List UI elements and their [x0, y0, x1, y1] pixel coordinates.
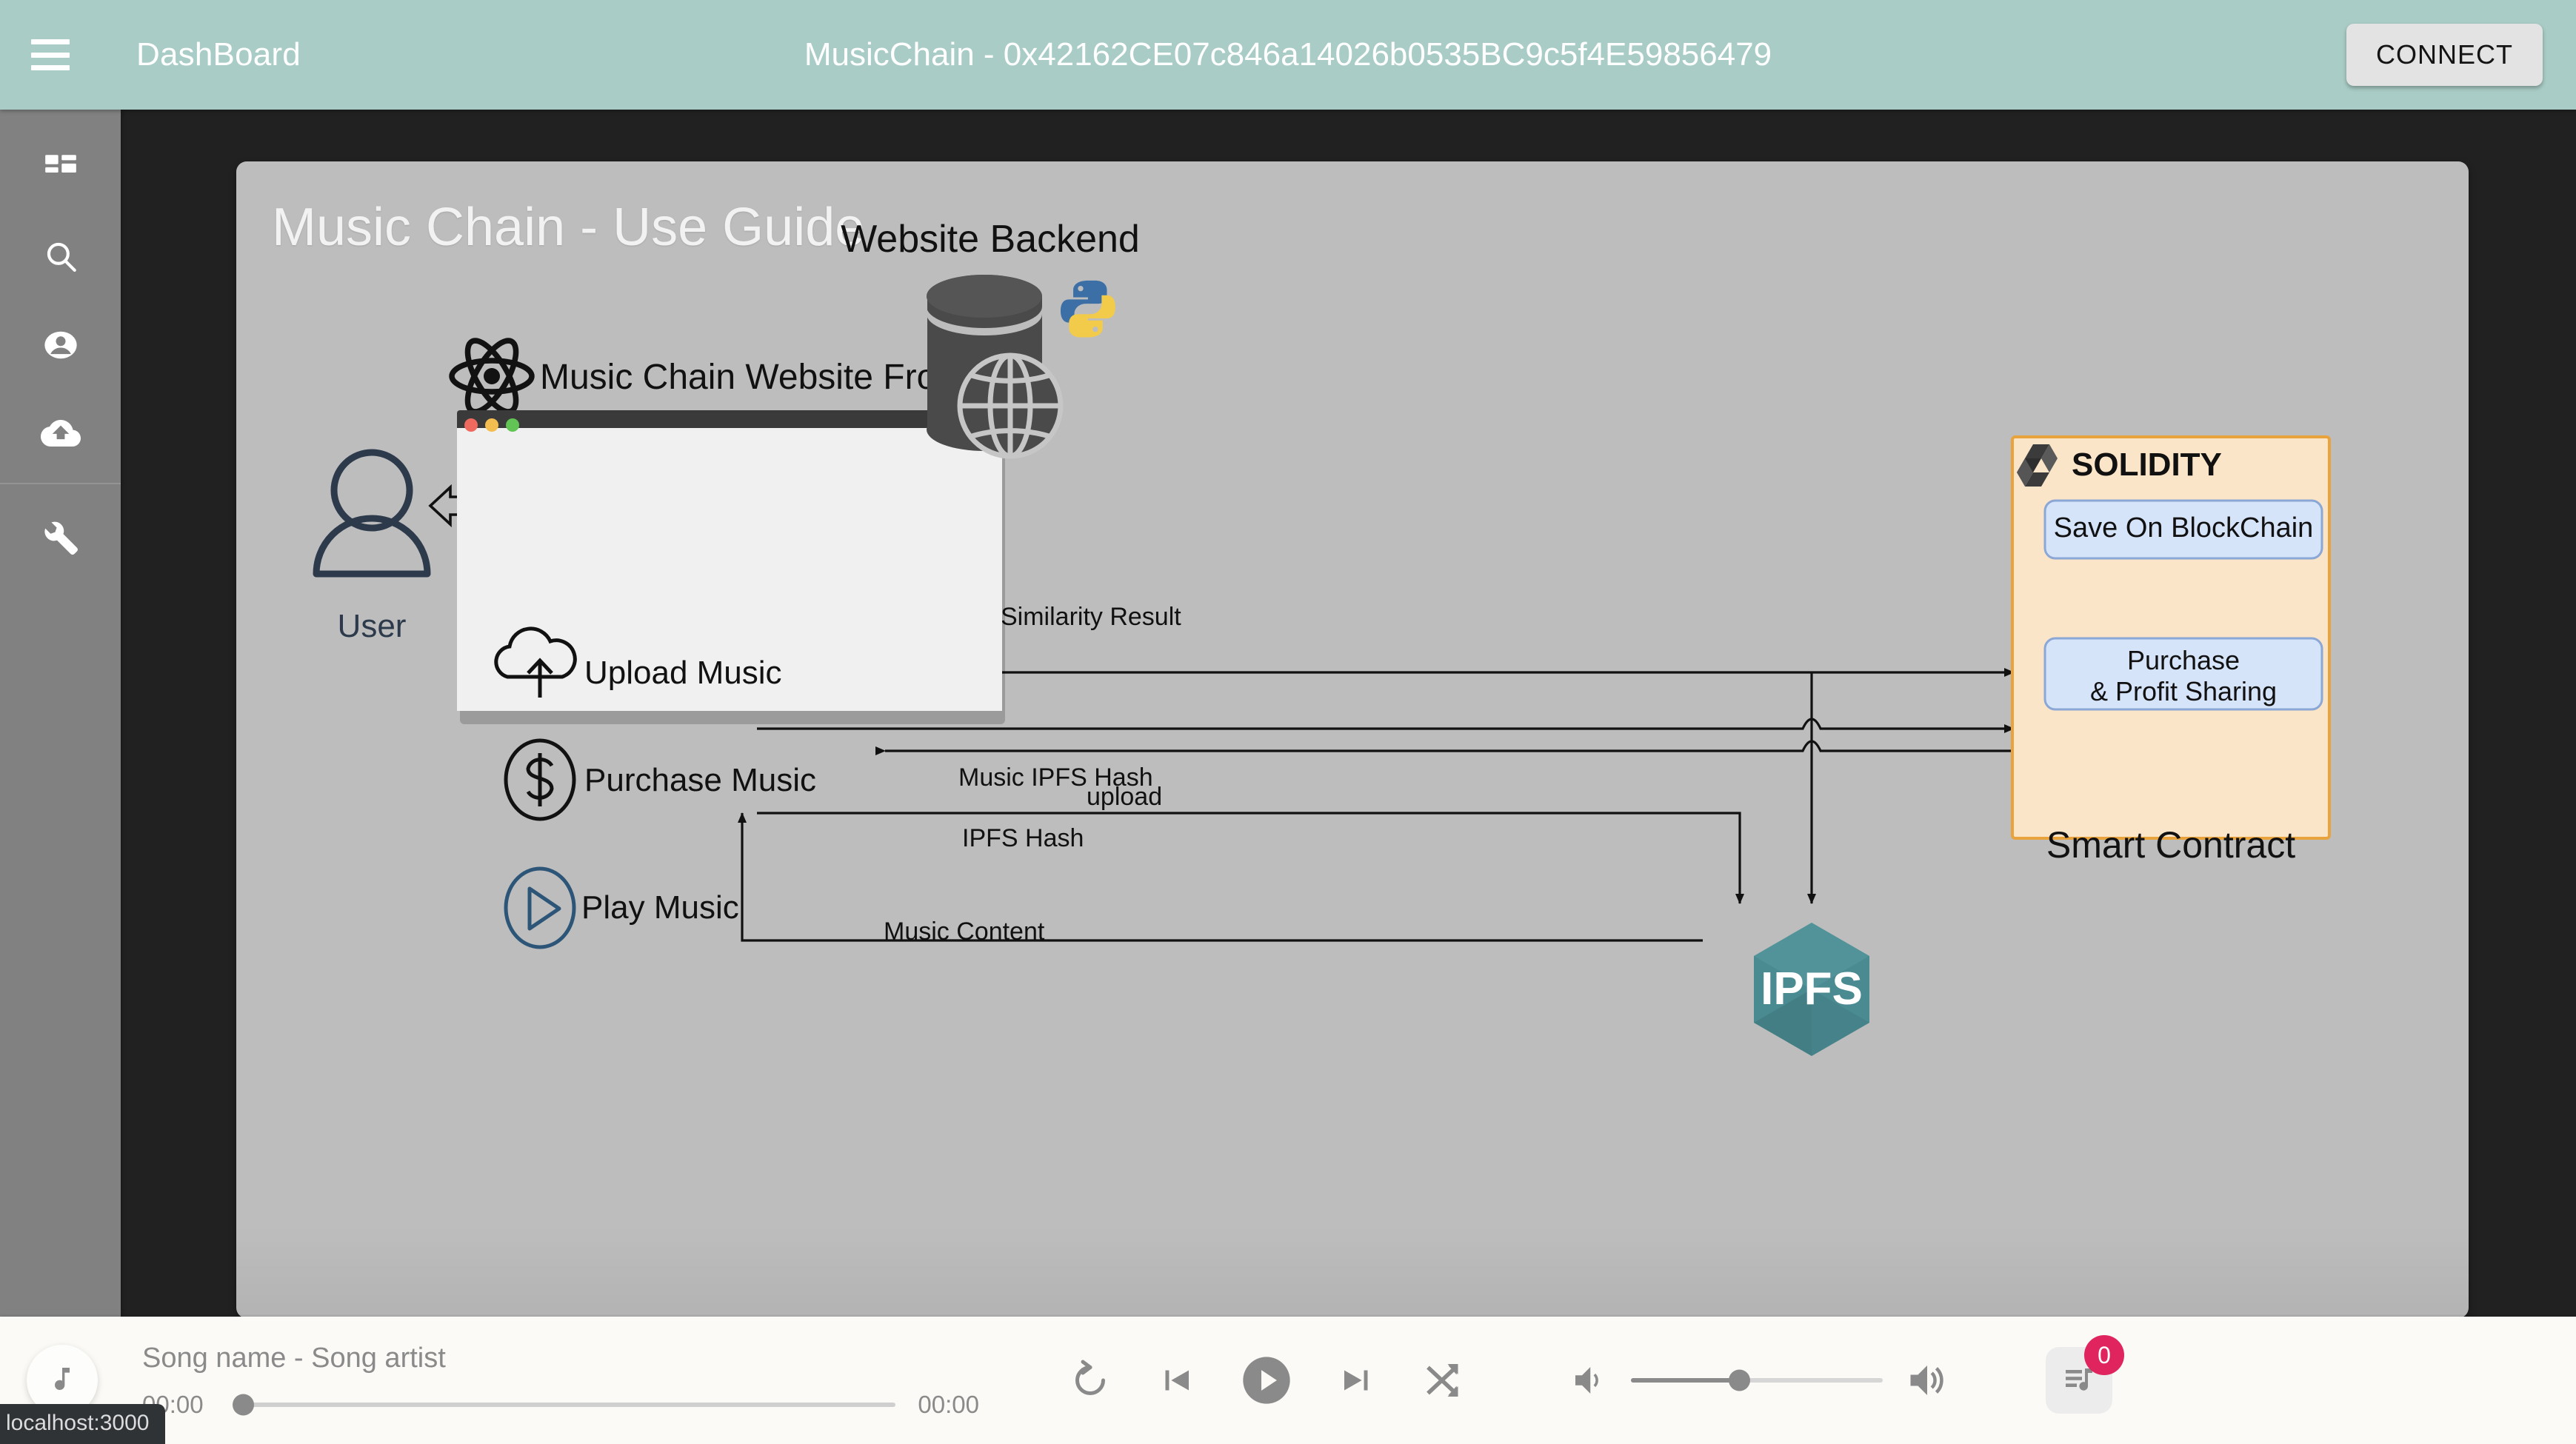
playlist-count-badge: 0 — [2084, 1335, 2124, 1375]
architecture-diagram: upload Similarity Result Music IPFS Hash… — [236, 161, 2469, 1317]
window-minimize-dot — [485, 418, 498, 432]
menu-label-purchase-music: Purchase Music — [584, 762, 816, 798]
node-ipfs: IPFS — [1754, 923, 1869, 1056]
edge-label-music-content: Music Content — [884, 917, 1045, 946]
track-info: Song name - Song artist 00:00 00:00 — [142, 1343, 979, 1419]
globe-icon — [960, 355, 1061, 456]
sidebar-item-dashboard[interactable] — [0, 124, 121, 213]
account-circle-icon — [41, 326, 80, 364]
sidebar-item-search[interactable] — [0, 213, 121, 301]
brand-title: DashBoard — [136, 36, 301, 73]
skip-previous-icon[interactable] — [1155, 1360, 1195, 1400]
backend-title: Website Backend — [841, 218, 1140, 261]
sidebar-item-account[interactable] — [0, 301, 121, 389]
sidebar-item-upload[interactable] — [0, 389, 121, 477]
skip-next-icon[interactable] — [1338, 1360, 1378, 1400]
seek-row: 00:00 00:00 — [142, 1391, 979, 1419]
sidebar-divider — [0, 483, 121, 484]
player-controls — [1068, 1352, 1465, 1408]
window-maximize-dot — [506, 418, 519, 432]
volume-slider[interactable] — [1631, 1378, 1883, 1383]
play-circle-icon — [506, 869, 574, 947]
node-smart-contract: SOLIDITY Save On BlockChain Purchase & P… — [2012, 437, 2329, 866]
music-note-icon — [47, 1364, 77, 1397]
top-app-bar: DashBoard MusicChain - 0x42162CE07c846a1… — [0, 0, 2576, 110]
contract-action-purchase-line1: Purchase — [2127, 645, 2240, 675]
dashboard-grid-icon — [42, 150, 79, 187]
edge-label-similarity-result: Similarity Result — [1001, 603, 1181, 631]
use-guide-card: Music Chain - Use Guide — [236, 161, 2469, 1317]
status-bar-url: localhost:3000 — [0, 1404, 165, 1444]
hamburger-menu-icon[interactable] — [31, 39, 70, 70]
menu-label-upload-music: Upload Music — [584, 655, 782, 691]
total-time: 00:00 — [918, 1391, 979, 1419]
wrench-icon — [41, 517, 80, 555]
sidebar-nav — [0, 110, 121, 1317]
react-logo-icon — [452, 334, 532, 419]
replay-icon[interactable] — [1068, 1358, 1112, 1403]
sidebar-item-tools[interactable] — [0, 492, 121, 580]
browser-window: Upload Music Purchase Music Play Music — [457, 410, 1005, 947]
app-root: DashBoard MusicChain - 0x42162CE07c846a1… — [0, 0, 2576, 1444]
window-close-dot — [464, 418, 478, 432]
volume-controls — [1569, 1358, 1949, 1403]
volume-thumb[interactable] — [1729, 1370, 1750, 1391]
track-title: Song name - Song artist — [142, 1343, 979, 1374]
python-logo-icon — [1061, 281, 1115, 338]
contract-action-purchase-line2: & Profit Sharing — [2090, 676, 2277, 706]
edge-label-ipfs-hash: IPFS Hash — [962, 824, 1084, 852]
volume-down-icon[interactable] — [1569, 1360, 1609, 1400]
music-player-bar: Song name - Song artist 00:00 00:00 — [0, 1317, 2576, 1444]
contract-action-save: Save On BlockChain — [2054, 512, 2314, 544]
solidity-badge-label: SOLIDITY — [2072, 447, 2222, 483]
search-icon — [42, 238, 79, 275]
volume-up-icon[interactable] — [1905, 1358, 1949, 1403]
volume-fill — [1631, 1378, 1738, 1383]
seek-slider[interactable] — [238, 1403, 895, 1407]
edge-label-upload-ipfs: upload — [1087, 783, 1162, 811]
chain-address-title: MusicChain - 0x42162CE07c846a14026b0535B… — [0, 36, 2576, 73]
smart-contract-label: Smart Contract — [2046, 824, 2295, 866]
shuffle-icon[interactable] — [1421, 1358, 1465, 1403]
main-content: Music Chain - Use Guide — [121, 110, 2576, 1317]
menu-label-play-music: Play Music — [581, 889, 739, 926]
cloud-upload-icon — [41, 413, 81, 453]
node-user-label: User — [338, 608, 407, 644]
playlist-button[interactable]: 0 — [2046, 1347, 2112, 1414]
play-circle-filled-icon[interactable] — [1238, 1352, 1295, 1408]
ipfs-label: IPFS — [1761, 963, 1863, 1015]
seek-thumb[interactable] — [233, 1394, 254, 1415]
dollar-circle-icon — [506, 741, 574, 819]
connect-button[interactable]: CONNECT — [2346, 24, 2543, 86]
